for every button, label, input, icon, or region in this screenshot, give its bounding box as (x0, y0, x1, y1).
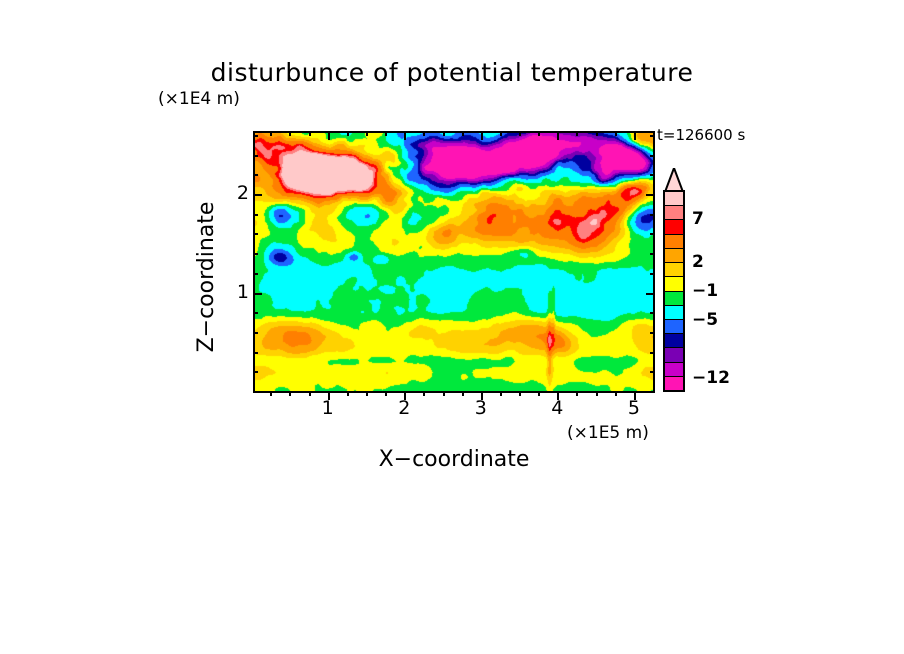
x-minor-tick (462, 391, 464, 396)
y-axis-title: Z−coordinate (193, 168, 221, 386)
x-minor-tick (309, 391, 311, 396)
y-minor-tick (253, 273, 258, 275)
x-minor-tick (423, 391, 425, 396)
x-minor-tick-top (576, 131, 578, 136)
y-minor-tick-right (650, 352, 655, 354)
x-minor-tick-top (309, 131, 311, 136)
y-major-tick-right (646, 293, 655, 295)
y-minor-tick (253, 214, 258, 216)
x-minor-tick-top (462, 131, 464, 136)
y-minor-tick (253, 233, 258, 235)
x-minor-tick (596, 391, 598, 396)
y-axis-unit-label: (×1E4 m) (158, 89, 240, 109)
colorbar-arrow-icon (663, 168, 685, 192)
x-minor-tick (615, 391, 617, 396)
x-minor-tick-top (270, 131, 272, 136)
x-minor-tick-top (500, 131, 502, 136)
colorbar-band (665, 362, 683, 376)
x-minor-tick-top (289, 131, 291, 136)
y-major-tick-right (646, 194, 655, 196)
colorbar-tick-label: 2 (692, 252, 704, 272)
y-minor-tick-right (650, 371, 655, 373)
colorbar-band (665, 376, 683, 390)
colorbar-band (665, 276, 683, 290)
x-tick-label: 5 (622, 397, 646, 419)
colorbar-band (665, 291, 683, 305)
x-minor-tick-top (538, 131, 540, 136)
y-minor-tick (253, 332, 258, 334)
y-minor-tick (253, 135, 258, 137)
colorbar-band (665, 319, 683, 333)
x-minor-tick (500, 391, 502, 396)
y-minor-tick-right (650, 174, 655, 176)
x-minor-tick-top (615, 131, 617, 136)
timestamp-label: t=126600 s (657, 126, 745, 144)
x-minor-tick-top (519, 131, 521, 136)
y-minor-tick-right (650, 312, 655, 314)
y-tick-label: 1 (225, 281, 249, 303)
x-minor-tick (366, 391, 368, 396)
y-minor-tick-right (650, 135, 655, 137)
contour-field (255, 133, 653, 391)
colorbar-band (665, 192, 683, 205)
x-minor-tick (270, 391, 272, 396)
x-minor-tick (443, 391, 445, 396)
y-major-tick (253, 194, 262, 196)
y-minor-tick (253, 312, 258, 314)
x-major-tick-top (634, 131, 636, 140)
x-minor-tick-top (443, 131, 445, 136)
x-tick-label: 1 (316, 397, 340, 419)
y-minor-tick-right (650, 273, 655, 275)
colorbar-band (665, 333, 683, 347)
y-major-tick (253, 293, 262, 295)
colorbar-tick-label: 7 (692, 209, 704, 229)
colorbar-band (665, 347, 683, 361)
x-major-tick-top (557, 131, 559, 140)
colorbar (663, 190, 685, 392)
x-minor-tick (347, 391, 349, 396)
colorbar-band (665, 234, 683, 248)
x-major-tick-top (481, 131, 483, 140)
y-minor-tick (253, 155, 258, 157)
figure-root: disturbunce of potential temperature (×1… (0, 0, 904, 654)
x-minor-tick-top (347, 131, 349, 136)
colorbar-band (665, 205, 683, 219)
y-minor-tick-right (650, 155, 655, 157)
y-minor-tick-right (650, 253, 655, 255)
x-axis-title: X−coordinate (253, 447, 655, 472)
x-major-tick-top (404, 131, 406, 140)
x-axis-unit-label: (×1E5 m) (567, 423, 649, 443)
y-minor-tick-right (650, 332, 655, 334)
colorbar-band (665, 248, 683, 262)
y-tick-label: 2 (225, 182, 249, 204)
x-minor-tick (385, 391, 387, 396)
x-minor-tick-top (596, 131, 598, 136)
y-minor-tick (253, 352, 258, 354)
x-major-tick-top (328, 131, 330, 140)
y-minor-tick (253, 371, 258, 373)
x-tick-label: 2 (392, 397, 416, 419)
y-minor-tick (253, 174, 258, 176)
x-minor-tick (576, 391, 578, 396)
x-minor-tick-top (385, 131, 387, 136)
x-minor-tick-top (366, 131, 368, 136)
x-minor-tick (289, 391, 291, 396)
colorbar-band (665, 262, 683, 276)
colorbar-band (665, 305, 683, 319)
colorbar-band (665, 219, 683, 233)
x-tick-label: 4 (545, 397, 569, 419)
colorbar-tick-label: −5 (692, 310, 718, 330)
colorbar-tick-label: −12 (692, 368, 730, 388)
x-minor-tick (519, 391, 521, 396)
x-tick-label: 3 (469, 397, 493, 419)
y-minor-tick-right (650, 214, 655, 216)
y-minor-tick (253, 253, 258, 255)
x-minor-tick (538, 391, 540, 396)
x-minor-tick-top (423, 131, 425, 136)
page-title: disturbunce of potential temperature (0, 58, 904, 87)
y-minor-tick-right (650, 233, 655, 235)
y-axis-title-text: Z−coordinate (193, 168, 221, 386)
colorbar-tick-label: −1 (692, 281, 718, 301)
contour-plot-area (253, 131, 655, 393)
